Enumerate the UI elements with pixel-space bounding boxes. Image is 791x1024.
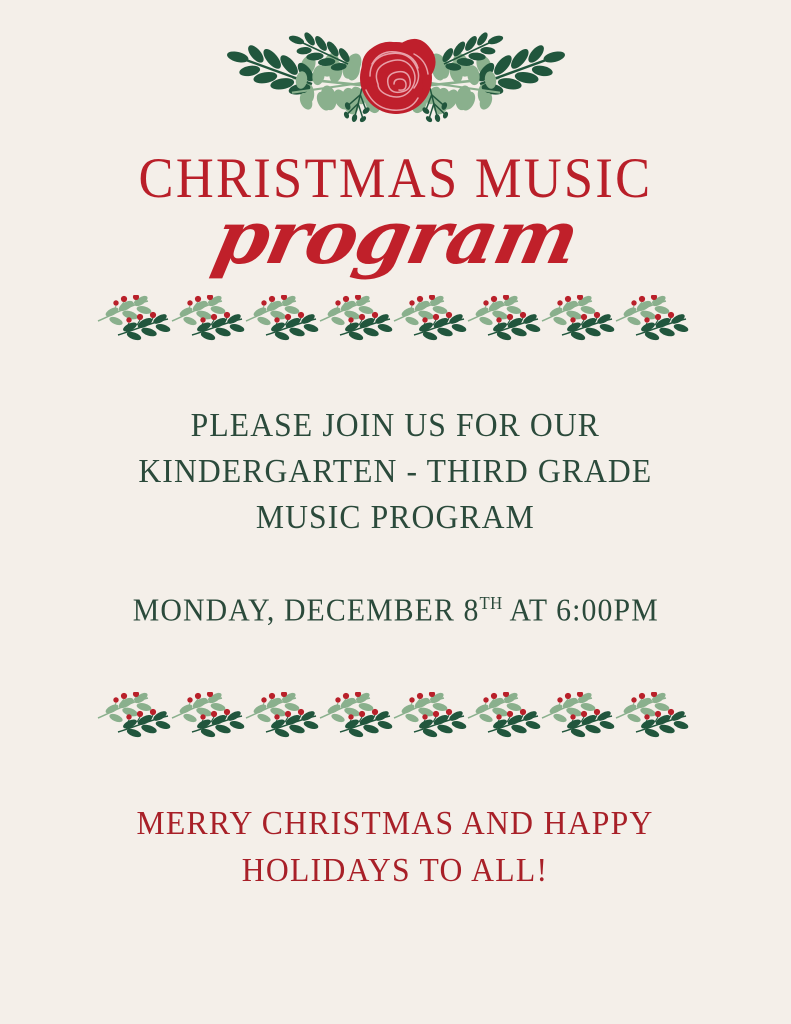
floral-wreath-ornament [136,26,656,144]
invitation-text-block: PLEASE JOIN US FOR OUR KINDERGARTEN - TH… [119,403,672,541]
event-time-suffix: AT 6:00PM [502,592,658,628]
closing-message-block: MERRY CHRISTMAS AND HAPPY HOLIDAYS TO AL… [117,800,673,894]
invitation-line-2: KINDERGARTEN - THIRD GRADE [139,449,653,495]
closing-line-1: MERRY CHRISTMAS AND HAPPY [137,800,654,847]
event-date-prefix: MONDAY, DECEMBER 8 [133,592,480,628]
title-block: CHRISTMAS MUSIC program [0,150,791,293]
invitation-line-1: PLEASE JOIN US FOR OUR [139,403,653,449]
poster-canvas: CHRISTMAS MUSIC program [0,0,791,1024]
invitation-line-3: MUSIC PROGRAM [139,495,653,541]
title-script: program [208,201,584,275]
closing-line-2: HOLIDAYS TO ALL! [137,847,654,894]
divider-top [96,295,696,341]
event-datetime: MONDAY, DECEMBER 8TH AT 6:00PM [133,581,659,632]
divider-bottom [96,692,696,738]
event-date-ordinal: TH [479,593,502,613]
